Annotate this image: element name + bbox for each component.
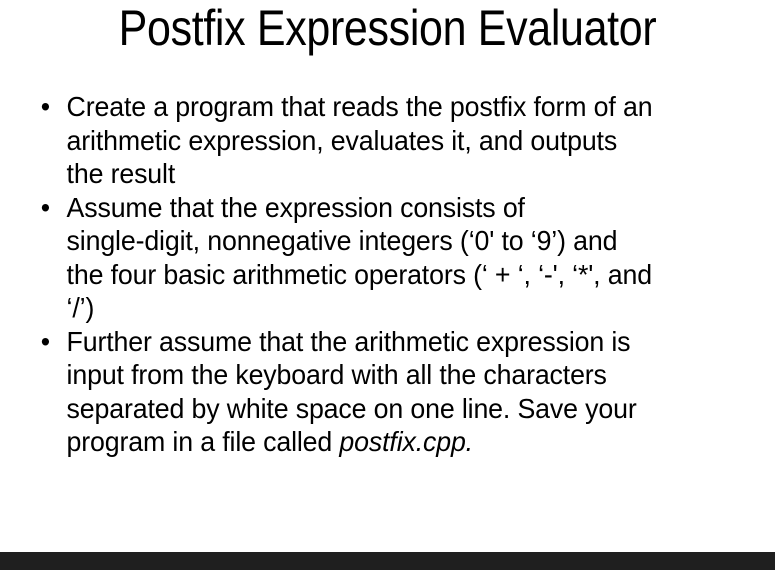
footer-bar (0, 552, 775, 570)
list-item: • Further assume that the arithmetic exp… (36, 325, 716, 459)
file-name-emphasis: postfix.cpp. (339, 426, 473, 457)
bullet-point-icon: • (41, 90, 50, 124)
list-item: • Assume that the expression consists of… (36, 191, 716, 325)
bullet-point-icon: • (41, 191, 50, 225)
bullet-point-icon: • (41, 325, 50, 359)
list-item-text: Create a program that reads the postfix … (67, 90, 716, 191)
bullet-list: • Create a program that reads the postfi… (36, 90, 748, 459)
list-item-text: Further assume that the arithmetic expre… (67, 325, 716, 459)
list-item: • Create a program that reads the postfi… (36, 90, 716, 191)
list-item-text: Assume that the expression consists of s… (67, 191, 716, 325)
slide: Postfix Expression Evaluator • Create a … (0, 0, 775, 570)
page-title: Postfix Expression Evaluator (54, 0, 721, 58)
